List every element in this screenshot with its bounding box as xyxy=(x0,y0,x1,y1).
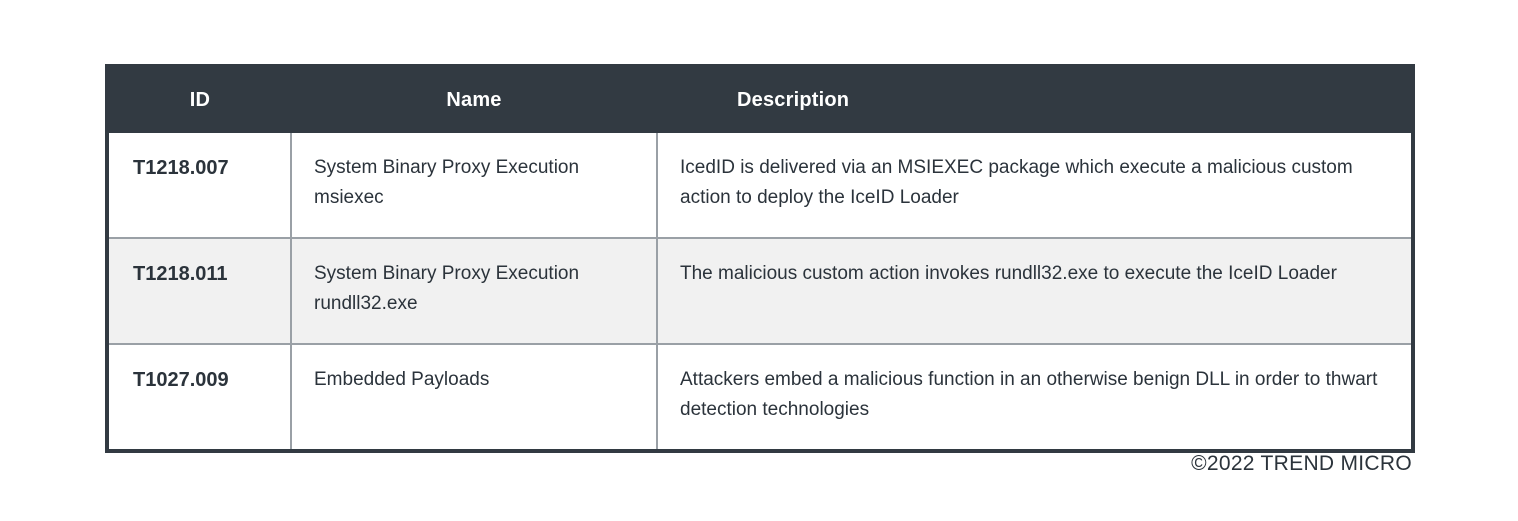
cell-description: Attackers embed a malicious function in … xyxy=(657,344,1411,449)
cell-description: The malicious custom action invokes rund… xyxy=(657,238,1411,344)
table-row: T1218.011 System Binary Proxy Execution … xyxy=(109,238,1411,344)
cell-name: System Binary Proxy Execution msiexec xyxy=(291,133,657,238)
column-header-id: ID xyxy=(109,68,291,133)
page-root: ID Name Description T1218.007 System Bin… xyxy=(0,0,1518,521)
techniques-table: ID Name Description T1218.007 System Bin… xyxy=(109,68,1411,449)
table-body: T1218.007 System Binary Proxy Execution … xyxy=(109,133,1411,449)
cell-id: T1027.009 xyxy=(109,344,291,449)
table-row: T1218.007 System Binary Proxy Execution … xyxy=(109,133,1411,238)
table-header-row: ID Name Description xyxy=(109,68,1411,133)
copyright-notice: ©2022 TREND MICRO xyxy=(1191,452,1412,476)
cell-id: T1218.007 xyxy=(109,133,291,238)
techniques-table-container: ID Name Description T1218.007 System Bin… xyxy=(105,64,1415,453)
cell-name: System Binary Proxy Execution rundll32.e… xyxy=(291,238,657,344)
column-header-name: Name xyxy=(291,68,657,133)
table-row: T1027.009 Embedded Payloads Attackers em… xyxy=(109,344,1411,449)
cell-name: Embedded Payloads xyxy=(291,344,657,449)
table-header: ID Name Description xyxy=(109,68,1411,133)
cell-id: T1218.011 xyxy=(109,238,291,344)
column-header-description: Description xyxy=(657,68,1411,133)
cell-description: IcedID is delivered via an MSIEXEC packa… xyxy=(657,133,1411,238)
